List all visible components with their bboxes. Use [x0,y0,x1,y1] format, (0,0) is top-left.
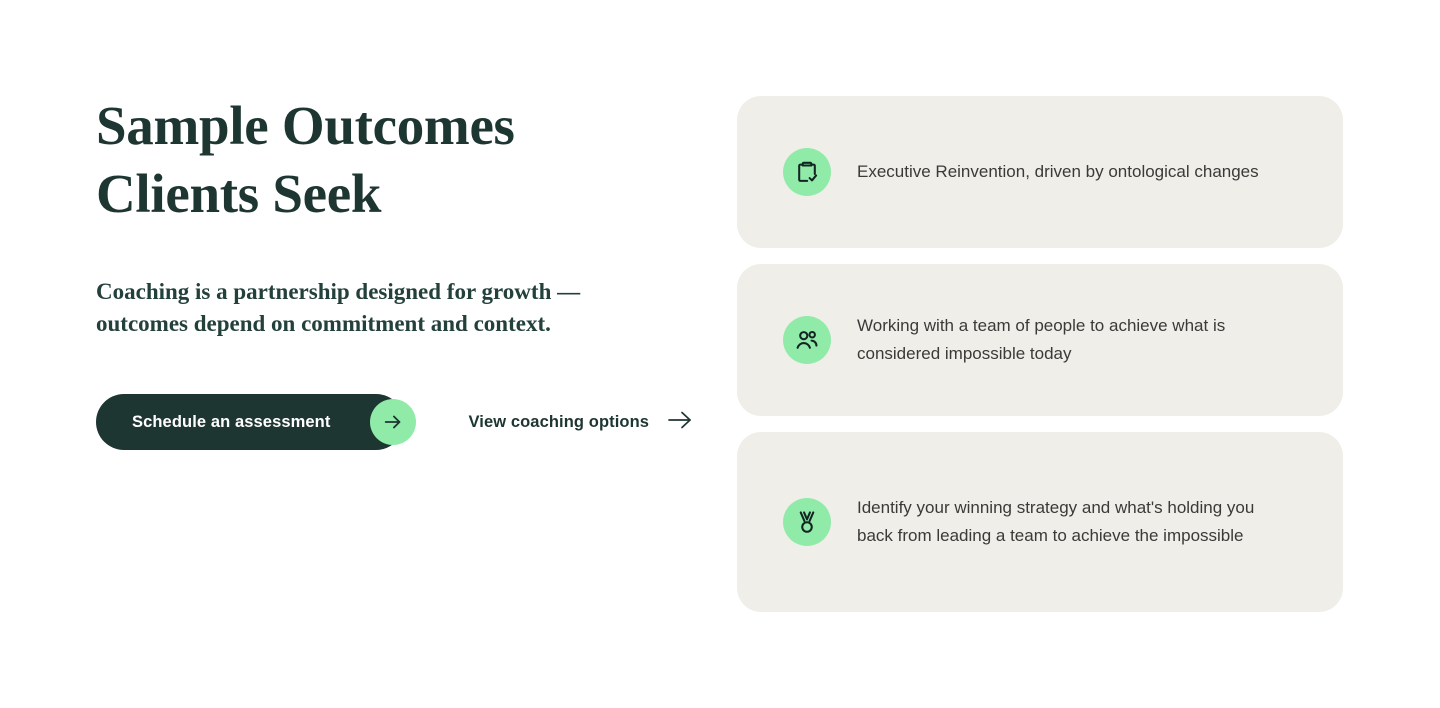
outcome-card[interactable]: Executive Reinvention, driven by ontolog… [737,96,1343,248]
outcome-card[interactable]: Working with a team of people to achieve… [737,264,1343,416]
view-coaching-options-label: View coaching options [468,413,649,432]
hero-text-column: Sample Outcomes Clients Seek Coaching is… [96,92,676,450]
view-coaching-options-link[interactable]: View coaching options [466,403,695,442]
outcomes-section: Sample Outcomes Clients Seek Coaching is… [0,0,1440,708]
users-group-icon [783,316,831,364]
medal-icon [783,498,831,546]
schedule-assessment-label: Schedule an assessment [132,413,330,432]
arrow-right-icon [667,409,693,436]
outcome-cards-list: Executive Reinvention, driven by ontolog… [737,96,1343,612]
outcome-card-text: Identify your winning strategy and what'… [857,494,1287,550]
schedule-assessment-button[interactable]: Schedule an assessment [96,394,404,450]
page-title: Sample Outcomes Clients Seek [96,92,566,228]
outcome-card-text: Executive Reinvention, driven by ontolog… [857,158,1259,186]
cta-row: Schedule an assessment View coaching opt… [96,394,676,450]
outcome-card-text: Working with a team of people to achieve… [857,312,1287,368]
clipboard-check-icon [783,148,831,196]
outcome-card[interactable]: Identify your winning strategy and what'… [737,432,1343,612]
hero-subheading: Coaching is a partnership designed for g… [96,276,641,340]
arrow-right-icon [370,399,416,445]
